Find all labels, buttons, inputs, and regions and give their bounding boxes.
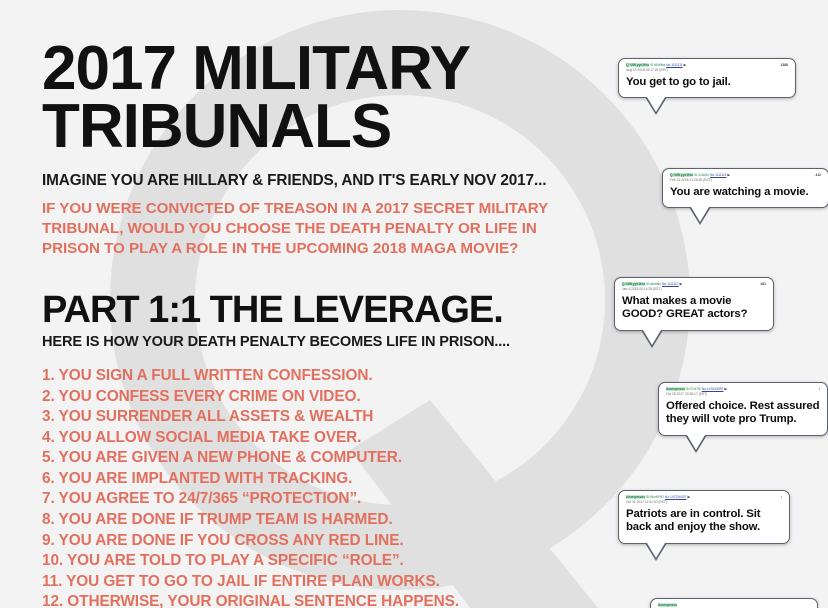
post-meta-left: Q !UW.yye1fxo ID:d8d9ba No.1111111 ▶ Aug… <box>626 63 777 73</box>
post-number: 1388 <box>781 63 788 68</box>
post-meta-left: Q !UW.yye1fxo ID:a6dd6c No.1111117 ▶ Jan… <box>622 282 756 292</box>
post-flag-icon: ▶ <box>684 63 687 67</box>
post-meta: Q !UW.yye1fxo ID:a6dd6c No.1111117 ▶ Jan… <box>622 282 766 292</box>
post-author-name: Anonymous <box>666 387 685 391</box>
post-date: Oct 31 2017 11:41:40 (EST) <box>626 500 777 505</box>
speech-bubble-tail-fill <box>687 435 705 450</box>
post-body: Patriots are in control. Sit back and en… <box>626 508 782 536</box>
step-item: 10. YOU ARE TOLD TO PLAY A SPECIFIC “ROL… <box>42 551 607 572</box>
post-body: Offered choice. Rest assured they will v… <box>666 400 820 428</box>
post-flag-icon: ▶ <box>727 173 730 177</box>
post-number: ▪ <box>819 387 820 392</box>
post-meta-left: Q !UW.yye1fxo ID:2c5d2e No.1111111 ▶ Feb… <box>670 173 811 183</box>
poster-title-line-1: 2017 MILITARY <box>42 40 607 98</box>
post-card[interactable]: Anonymous ID:KbzHPfG No.147226407 ▶ Oct … <box>618 490 790 544</box>
post-author-name: Anonymous <box>626 495 645 499</box>
post-body-line: they will vote pro Trump. <box>666 413 820 427</box>
poster-text-column: 2017 MILITARY TRIBUNALS IMAGINE YOU ARE … <box>42 40 607 608</box>
post-meta: Anonymous <box>658 603 810 608</box>
post-meta: Q !UW.yye1fxo ID:d8d9ba No.1111111 ▶ Aug… <box>626 63 788 73</box>
step-item: 1. YOU SIGN A FULL WRITTEN CONFESSION. <box>42 366 607 387</box>
post-link[interactable]: No.147643997 <box>702 387 724 391</box>
post-meta-left: Anonymous ID:R7dTfk No.147643997 ▶ Oct 2… <box>666 387 815 397</box>
post-cards-column: Q !UW.yye1fxo ID:d8d9ba No.1111111 ▶ Aug… <box>600 0 828 608</box>
post-tripcode: ID:2c5d2e <box>694 173 709 177</box>
post-number: ▪ <box>781 495 782 500</box>
question-line-3: PRISON TO PLAY A ROLE IN THE UPCOMING 20… <box>42 239 607 259</box>
post-body-line: back and enjoy the show. <box>626 521 782 535</box>
post-meta: Anonymous ID:KbzHPfG No.147226407 ▶ Oct … <box>626 495 782 505</box>
leverage-steps-list: 1. YOU SIGN A FULL WRITTEN CONFESSION. 2… <box>42 366 607 608</box>
step-item: 9. YOU ARE DONE IF YOU CROSS ANY RED LIN… <box>42 531 607 552</box>
post-flag-icon: ▶ <box>687 495 690 499</box>
post-date: Feb 21 2018 21:26:30 (EST) <box>670 178 811 183</box>
post-body-line: You get to go to jail. <box>626 76 788 90</box>
post-tripcode: ID:R7dTfk <box>686 387 701 391</box>
post-link[interactable]: No.147226407 <box>665 495 687 499</box>
post-date: Oct 29 2017 22:36:17 (EST) <box>666 392 815 397</box>
post-date: Jan 4 2018 00:14:28 (EST) <box>622 287 756 292</box>
post-author-name: Q !UW.yye1fxo <box>670 173 693 177</box>
question-line-1: IF YOU WERE CONVICTED OF TREASON IN A 20… <box>42 199 607 219</box>
poster-question: IF YOU WERE CONVICTED OF TREASON IN A 20… <box>42 199 607 258</box>
poster-title-line-2: TRIBUNALS <box>42 98 607 156</box>
part-subheading: HERE IS HOW YOUR DEATH PENALTY BECOMES L… <box>42 334 607 350</box>
post-body-line: GOOD? GREAT actors? <box>622 308 766 322</box>
question-line-2: TRIBUNAL, WOULD YOU CHOOSE THE DEATH PEN… <box>42 219 607 239</box>
step-item: 5. YOU ARE GIVEN A NEW PHONE & COMPUTER. <box>42 448 607 469</box>
step-item: 3. YOU SURRENDER ALL ASSETS & WEALTH <box>42 407 607 428</box>
step-item: 7. YOU AGREE TO 24/7/365 “PROTECTION”. <box>42 489 607 510</box>
post-body: What makes a movie GOOD? GREAT actors? <box>622 295 766 323</box>
post-body: You are watching a movie. <box>670 186 821 200</box>
post-tripcode: ID:a6dd6c <box>646 282 661 286</box>
post-link[interactable]: No.1111111 <box>666 63 683 67</box>
post-body: You get to go to jail. <box>626 76 788 90</box>
post-number: 412 <box>815 173 821 178</box>
step-item: 4. YOU ALLOW SOCIAL MEDIA TAKE OVER. <box>42 428 607 449</box>
post-tripcode: ID:KbzHPfG <box>646 495 664 499</box>
post-body-line: You are watching a movie. <box>670 186 821 200</box>
post-flag-icon: ▶ <box>680 282 683 286</box>
post-number: 461 <box>760 282 766 287</box>
step-item: 2. YOU CONFESS EVERY CRIME ON VIDEO. <box>42 387 607 408</box>
speech-bubble-tail-fill <box>691 207 709 222</box>
post-date: Aug 13 2018 03:17:25 (EST) <box>626 68 777 73</box>
step-item: 6. YOU ARE IMPLANTED WITH TRACKING. <box>42 469 607 490</box>
step-item: 12. OTHERWISE, YOUR ORIGINAL SENTENCE HA… <box>42 592 607 608</box>
step-item: 11. YOU GET TO GO TO JAIL IF ENTIRE PLAN… <box>42 572 607 593</box>
post-author-name: Anonymous <box>658 603 677 607</box>
poster-tagline: IMAGINE YOU ARE HILLARY & FRIENDS, AND I… <box>42 172 607 190</box>
post-body-line: Offered choice. Rest assured <box>666 400 820 414</box>
speech-bubble-tail-fill <box>643 330 661 345</box>
post-card[interactable]: Anonymous ID:R7dTfk No.147643997 ▶ Oct 2… <box>658 382 828 436</box>
post-body-line: Patriots are in control. Sit <box>626 508 782 522</box>
post-meta-left: Anonymous <box>658 603 806 608</box>
post-body-line: What makes a movie <box>622 295 766 309</box>
post-card[interactable]: Q !UW.yye1fxo ID:d8d9ba No.1111111 ▶ Aug… <box>618 58 796 98</box>
post-author-name: Q !UW.yye1fxo <box>622 282 645 286</box>
speech-bubble-tail-fill <box>647 97 665 112</box>
post-link[interactable]: No.1111117 <box>662 282 679 286</box>
post-card[interactable]: Q !UW.yye1fxo ID:a6dd6c No.1111117 ▶ Jan… <box>614 277 774 331</box>
step-item: 8. YOU ARE DONE IF TRUMP TEAM IS HARMED. <box>42 510 607 531</box>
post-meta-left: Anonymous ID:KbzHPfG No.147226407 ▶ Oct … <box>626 495 777 505</box>
part-heading: PART 1:1 THE LEVERAGE. <box>42 291 607 331</box>
post-card[interactable]: Q !UW.yye1fxo ID:2c5d2e No.1111111 ▶ Feb… <box>662 168 828 208</box>
post-author-name: Q !UW.yye1fxo <box>626 63 649 67</box>
post-link[interactable]: No.1111111 <box>710 173 727 177</box>
post-card-partial[interactable]: Anonymous <box>650 598 818 608</box>
speech-bubble-tail-fill <box>647 543 665 558</box>
post-flag-icon: ▶ <box>724 387 727 391</box>
post-meta: Anonymous ID:R7dTfk No.147643997 ▶ Oct 2… <box>666 387 820 397</box>
post-meta: Q !UW.yye1fxo ID:2c5d2e No.1111111 ▶ Feb… <box>670 173 821 183</box>
post-tripcode: ID:d8d9ba <box>650 63 665 67</box>
